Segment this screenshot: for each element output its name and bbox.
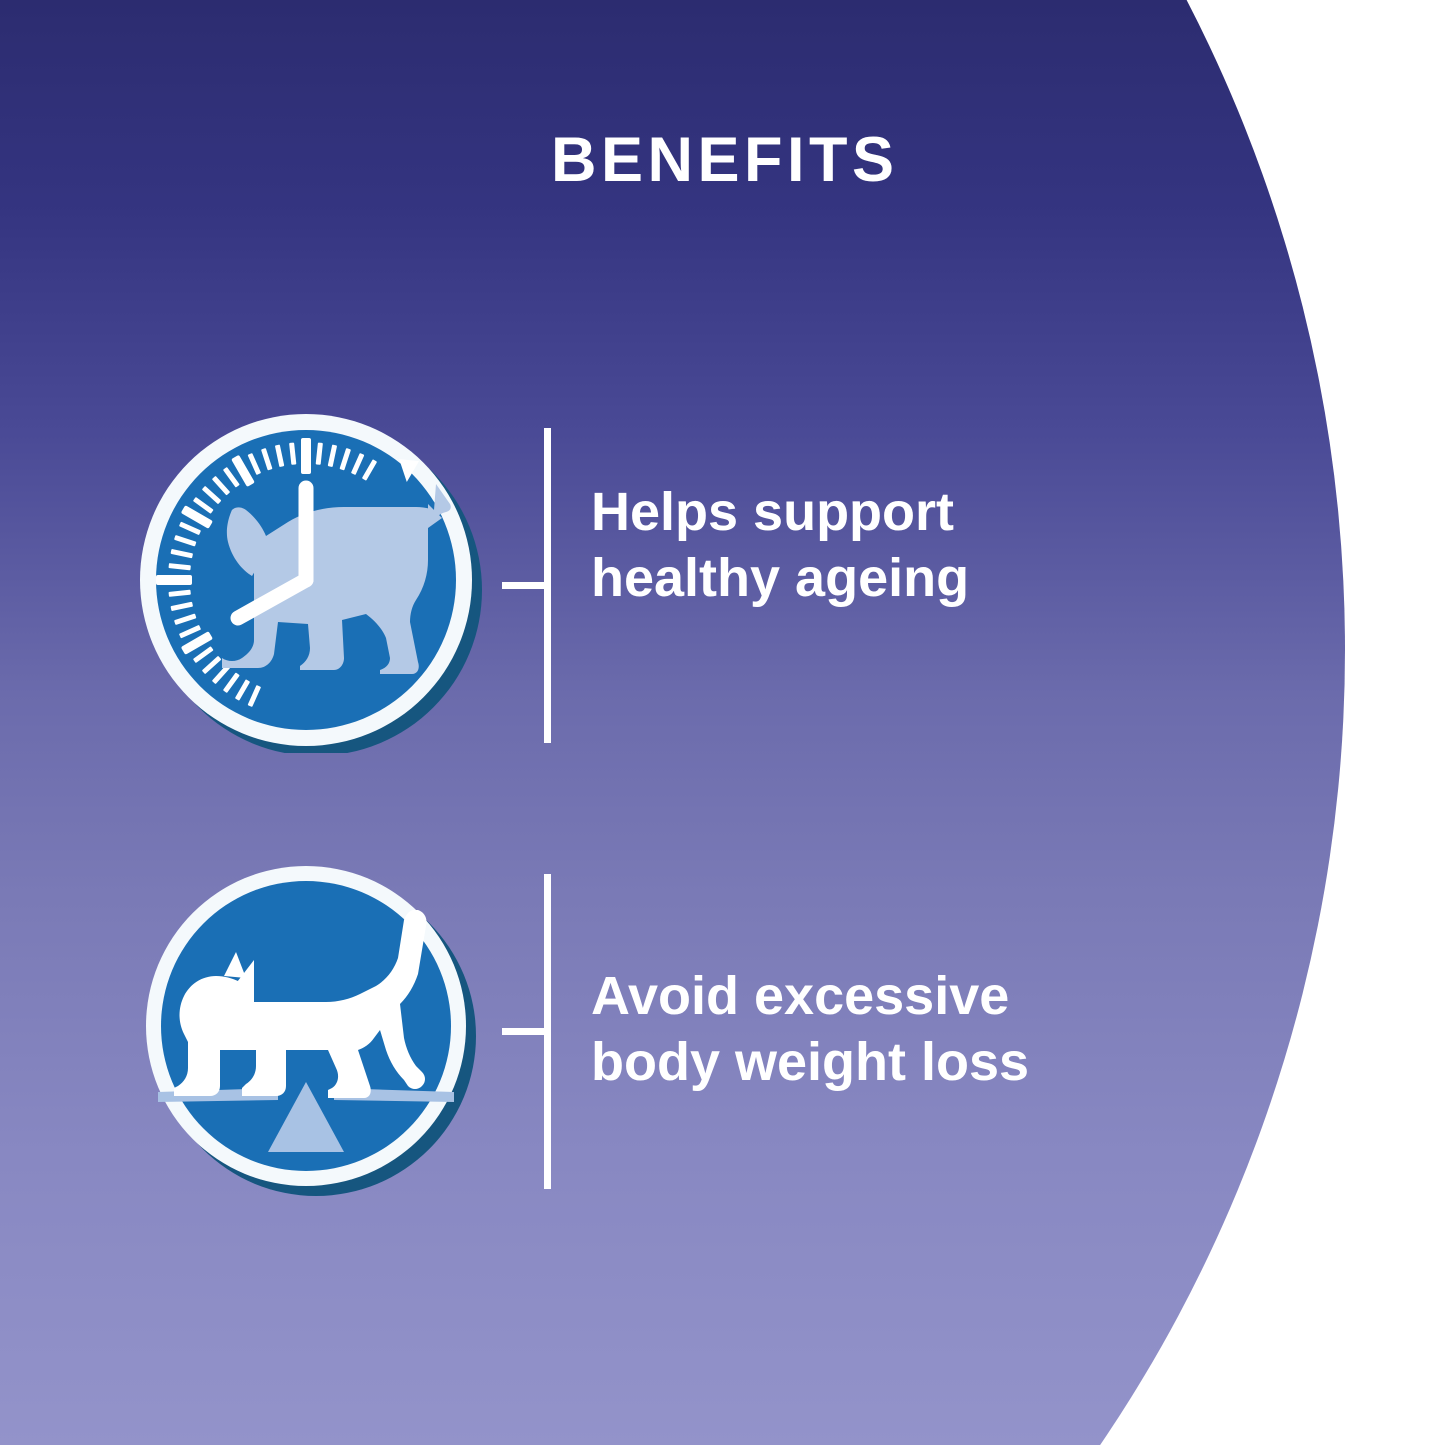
benefit-text-line-1: Avoid excessive (591, 964, 1211, 1030)
benefits-panel: BENEFITS (0, 0, 1445, 1445)
benefit-row: Avoid excessive body weight loss (0, 846, 1445, 1206)
benefit-text: Avoid excessive body weight loss (591, 964, 1211, 1096)
page-title: BENEFITS (0, 126, 1445, 195)
divider-tick-mark (502, 1028, 550, 1035)
benefit-text-line-2: body weight loss (591, 1030, 1211, 1096)
benefit-row: Helps support healthy ageing (0, 400, 1445, 760)
benefit-text-line-1: Helps support (591, 480, 1211, 546)
cat-on-balance-scale-icon (128, 854, 488, 1199)
divider-tick-mark (502, 582, 550, 589)
benefit-text-line-2: healthy ageing (591, 546, 1211, 612)
benefit-text: Helps support healthy ageing (591, 480, 1211, 612)
clock-with-walking-cat-icon (128, 408, 488, 753)
